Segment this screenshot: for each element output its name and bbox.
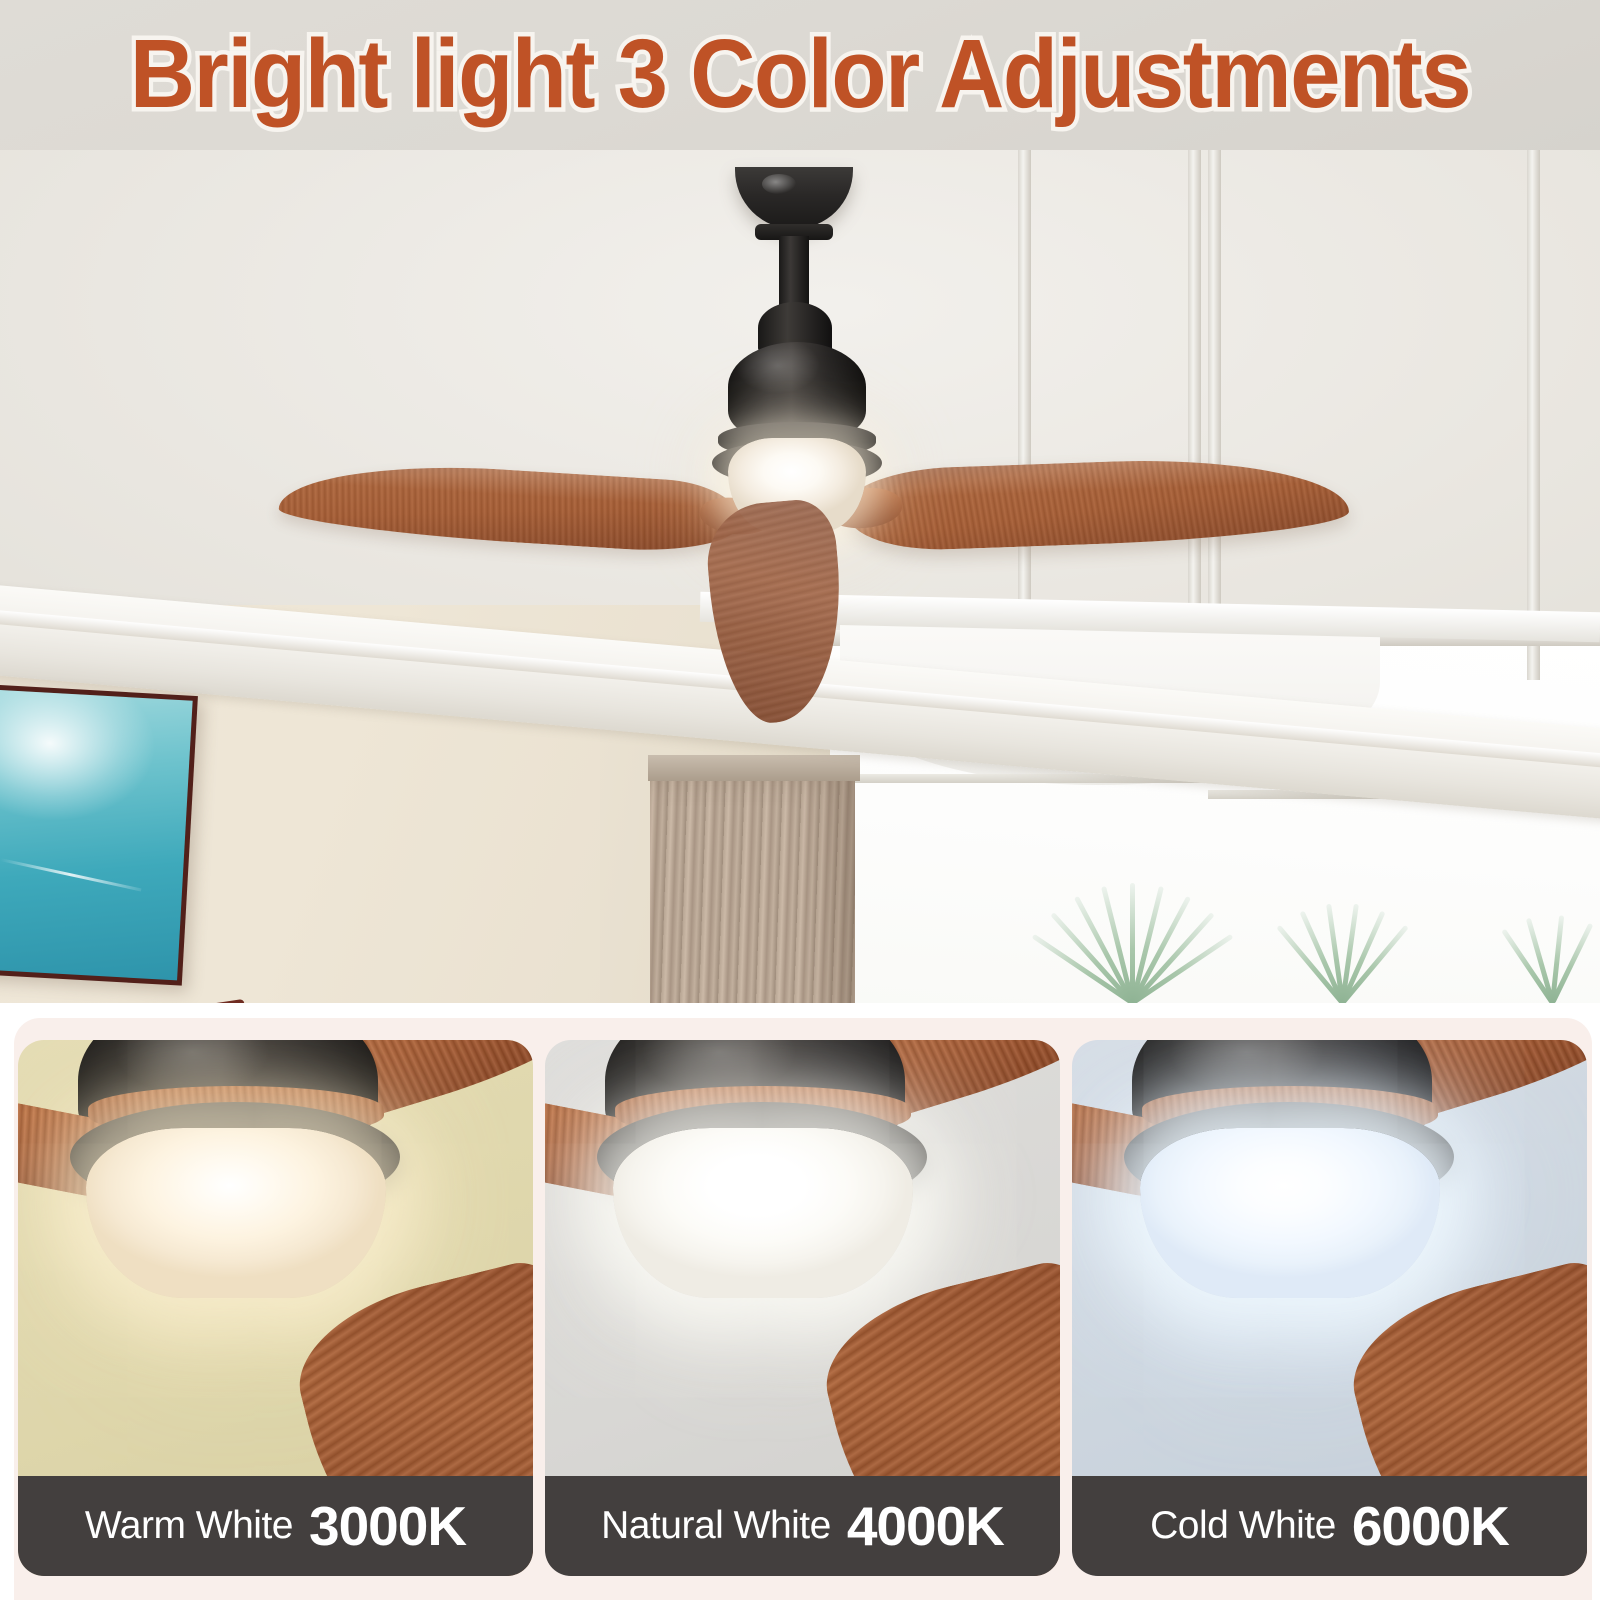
hero-room-photo [0, 150, 1600, 1003]
color-card-natural-white[interactable]: Natural White 4000K [545, 1040, 1060, 1576]
canopy-highlight [762, 174, 796, 194]
fan-mounting-canopy [735, 167, 853, 229]
color-name-label: Cold White [1150, 1504, 1336, 1548]
color-card-warm-white[interactable]: Warm White 3000K [18, 1040, 533, 1576]
kelvin-value: 4000K [847, 1494, 1004, 1558]
kelvin-value: 3000K [309, 1494, 466, 1558]
caption-bar-cold-white: Cold White 6000K [1072, 1476, 1587, 1576]
fan-blade-left [277, 456, 743, 556]
fan-downrod [779, 236, 809, 308]
page-title: Bright light 3 Color Adjustments [56, 18, 1544, 130]
thumb-light-globe [86, 1128, 386, 1298]
thumb-light-globe [613, 1128, 913, 1298]
color-name-label: Warm White [85, 1504, 293, 1548]
color-temperature-cards: Warm White 3000K Natural White 4000K [18, 1040, 1588, 1576]
color-card-cold-white[interactable]: Cold White 6000K [1072, 1040, 1587, 1576]
color-name-label: Natural White [601, 1504, 831, 1548]
ceiling-fan [0, 150, 1600, 1003]
caption-bar-warm-white: Warm White 3000K [18, 1476, 533, 1576]
kelvin-value: 6000K [1352, 1494, 1509, 1558]
caption-bar-natural-white: Natural White 4000K [545, 1476, 1060, 1576]
header-banner: Bright light 3 Color Adjustments [0, 0, 1600, 150]
fan-blade-right [846, 453, 1351, 552]
thumb-light-globe [1140, 1128, 1440, 1298]
fan-blade-front [703, 497, 852, 727]
